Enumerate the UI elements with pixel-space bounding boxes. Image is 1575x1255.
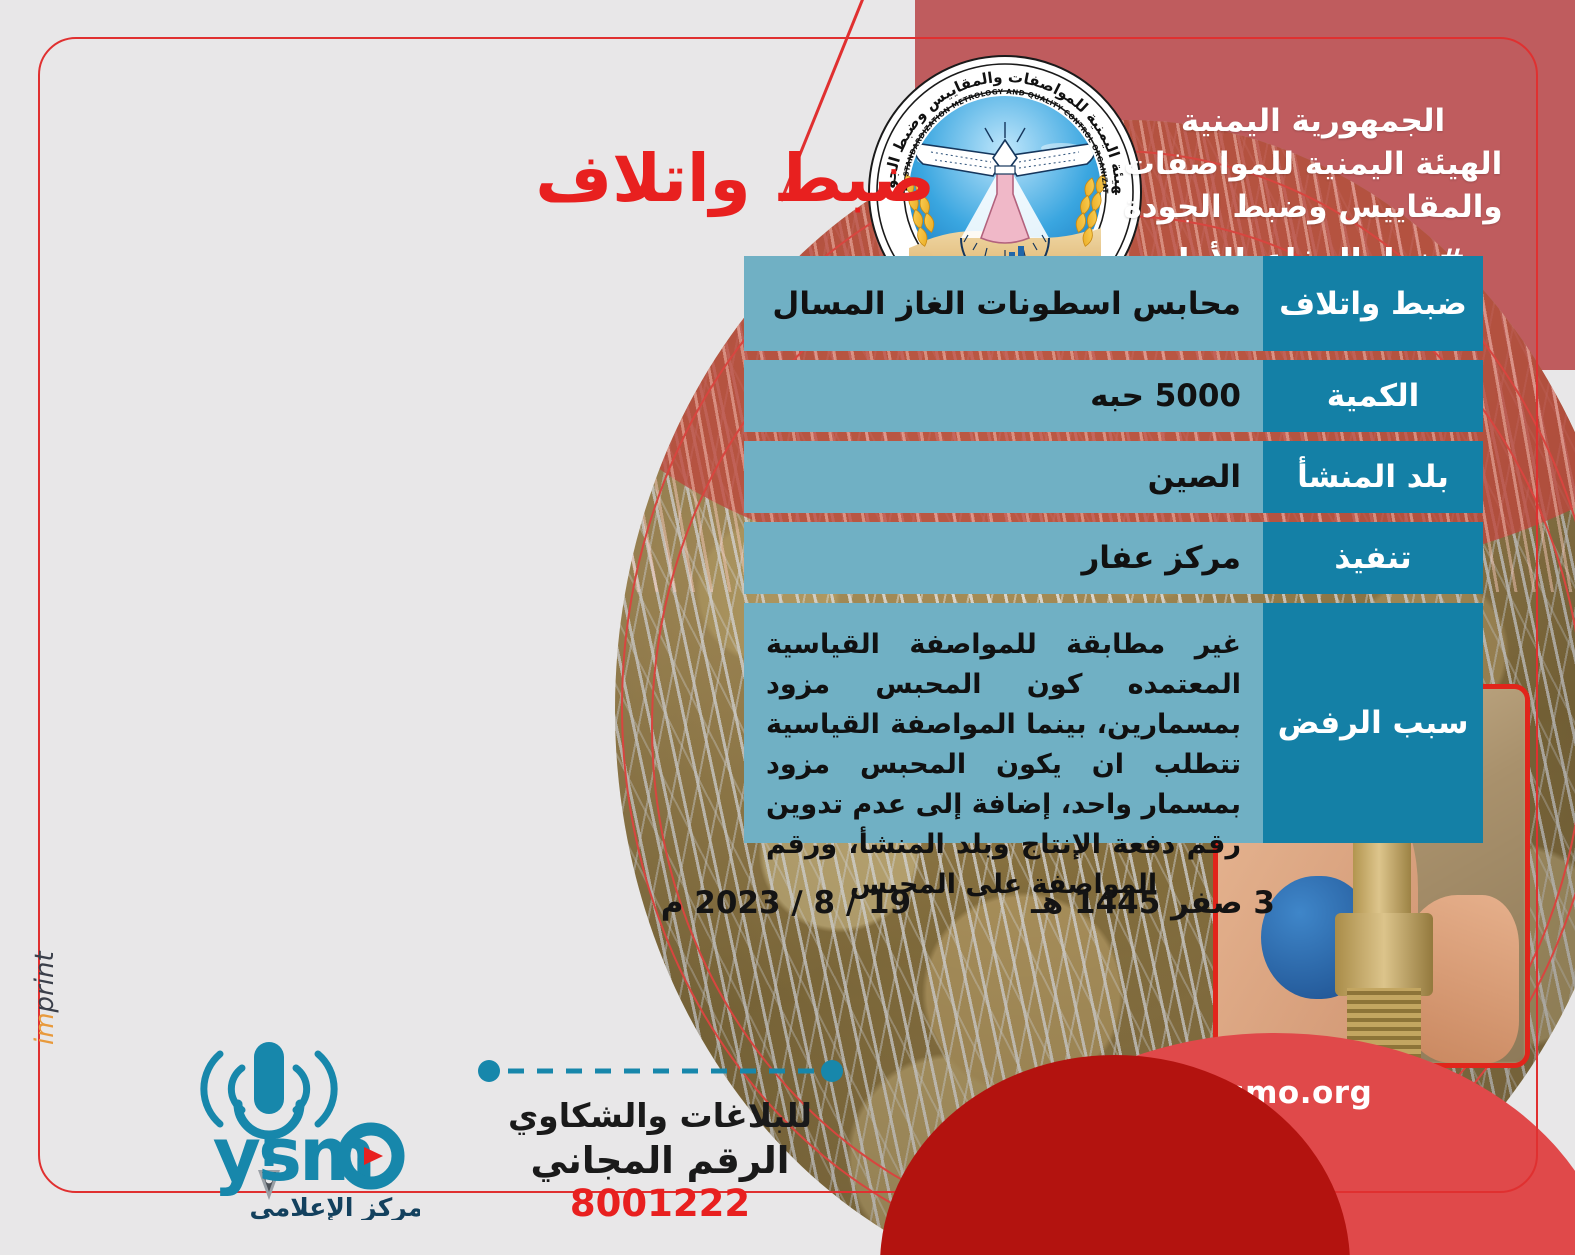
row-value: الصين (744, 441, 1263, 513)
media-center-caption: المركز الإعلامي (249, 1193, 420, 1220)
table-row: تنفيذ مركز عفار (735, 522, 1483, 594)
row-value: مركز عفار (744, 522, 1263, 594)
row-label: الكمية (1263, 360, 1483, 432)
page-title: ضبط واتلاف (535, 140, 935, 217)
org-line-1: الجمهورية اليمنية (1103, 100, 1523, 143)
dotted-divider (478, 1060, 843, 1082)
table-row: ضبط واتلاف محابس اسطونات الغاز المسال (735, 256, 1483, 351)
row-label: سبب الرفض (1263, 603, 1483, 843)
row-label: بلد المنشأ (1263, 441, 1483, 513)
row-value: غير مطابقة للمواصفة القياسية المعتمده كو… (744, 603, 1263, 843)
free-number-label: الرقم المجاني (531, 1139, 790, 1182)
hijri-date: 3 صفر 1445 هـ (1031, 885, 1275, 921)
poster-root: www.ysmo.org (0, 0, 1575, 1255)
watermark-part-1: im (30, 1012, 60, 1045)
free-number-value[interactable]: 8001222 (570, 1182, 750, 1225)
gregorian-date: 19 / 8 / 2023 م (661, 885, 911, 921)
table-row: الكمية 5000 حبه (735, 360, 1483, 432)
table-row: بلد المنشأ الصين (735, 441, 1483, 513)
complaints-label: للبلاغات والشكاوي (450, 1096, 870, 1135)
table-row: سبب الرفض غير مطابقة للمواصفة القياسية ا… (735, 603, 1483, 843)
row-label: تنفيذ (1263, 522, 1483, 594)
org-line-3: والمقاييس وضبط الجودة (1103, 186, 1523, 229)
imprint-watermark: imprint (30, 951, 60, 1045)
row-value: محابس اسطونات الغاز المسال (744, 256, 1263, 351)
rejection-reason-text: غير مطابقة للمواصفة القياسية المعتمده كو… (766, 617, 1241, 905)
row-value: 5000 حبه (744, 360, 1263, 432)
complaints-block: للبلاغات والشكاوي الرقم المجاني 8001222 (450, 1060, 870, 1225)
date-line: 3 صفر 1445 هـ 19 / 8 / 2023 م (661, 885, 1275, 921)
watermark-part-2: print (30, 951, 60, 1012)
seizure-details-table: ضبط واتلاف محابس اسطونات الغاز المسال ال… (735, 256, 1483, 852)
org-line-2: الهيئة اليمنية للمواصفات (1103, 143, 1523, 186)
ysmo-media-center-logo: ysm المركز الإعلامي (150, 1020, 420, 1220)
free-number-row: الرقم المجاني 8001222 (450, 1139, 870, 1225)
row-label: ضبط واتلاف (1263, 256, 1483, 351)
